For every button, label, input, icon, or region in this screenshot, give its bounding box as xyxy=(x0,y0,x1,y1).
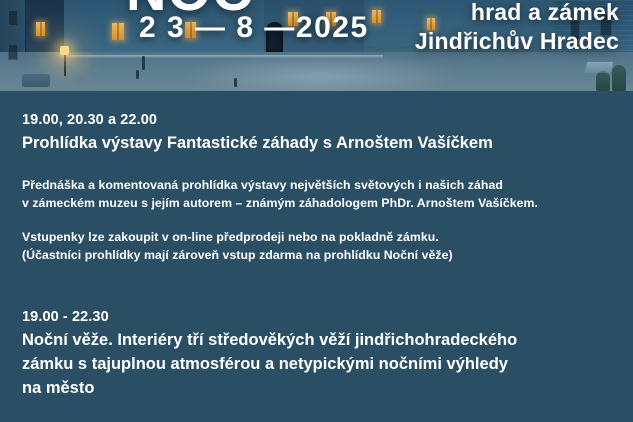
event-2-time: 19.00 - 22.30 xyxy=(22,306,611,328)
lit-window-icon xyxy=(372,10,381,23)
event-2-title-line2: zámku s tajuplnou atmosférou a netypický… xyxy=(22,352,611,376)
event-1-description-line1: Přednáška a komentovaná prohlídka výstav… xyxy=(22,176,611,194)
event-1-tickets-line1: Vstupenky lze zakoupit v on-line předpro… xyxy=(22,228,611,246)
spacer xyxy=(22,264,611,306)
hero-banner: NOC 2 3 — 8 —2025 hrad a zámek Jindřichů… xyxy=(0,0,633,91)
hero-venue-line1: hrad a zámek xyxy=(415,0,619,26)
event-block-1: 19.00, 20.30 a 22.00 Prohlídka výstavy F… xyxy=(22,109,611,264)
bush-shrub xyxy=(612,65,626,91)
lit-window-icon xyxy=(36,22,45,36)
lamp-light-icon xyxy=(60,46,69,55)
stone-planter xyxy=(22,74,50,87)
spacer xyxy=(22,155,611,176)
lamp-post xyxy=(64,52,66,76)
hero-venue: hrad a zámek Jindřichův Hradec xyxy=(415,0,619,56)
event-1-time: 19.00, 20.30 a 22.00 xyxy=(22,109,611,131)
event-1-title: Prohlídka výstavy Fantastické záhady s A… xyxy=(22,131,611,155)
event-block-2: 19.00 - 22.30 Noční věže. Interiéry tří … xyxy=(22,306,611,400)
courtyard-step xyxy=(60,55,383,58)
person-silhouette xyxy=(234,78,237,87)
event-1-description-line2: v zámeckém muzeu s jejím autorem – známý… xyxy=(22,194,611,212)
bench xyxy=(585,62,613,73)
dark-window-icon xyxy=(8,44,18,60)
event-1-tickets-line2: (Účastníci prohlídky mají zároveň vstup … xyxy=(22,246,611,264)
event-2-title-line3: na město xyxy=(22,376,611,400)
hero-venue-line2: Jindřichův Hradec xyxy=(415,26,619,56)
lit-window-icon xyxy=(112,23,124,40)
poster-page: NOC 2 3 — 8 —2025 hrad a zámek Jindřichů… xyxy=(0,0,633,422)
content-area: 19.00, 20.30 a 22.00 Prohlídka výstavy F… xyxy=(0,91,633,400)
person-silhouette xyxy=(142,56,145,70)
spacer xyxy=(22,212,611,228)
event-2-title-line1: Noční věže. Interiéry tří středověkých v… xyxy=(22,328,611,352)
dark-window-icon xyxy=(8,10,18,26)
building-left-secondary xyxy=(26,0,64,58)
hero-date: 2 3 — 8 —2025 xyxy=(139,11,369,45)
bush-shrub xyxy=(596,71,610,91)
person-silhouette xyxy=(136,70,139,79)
